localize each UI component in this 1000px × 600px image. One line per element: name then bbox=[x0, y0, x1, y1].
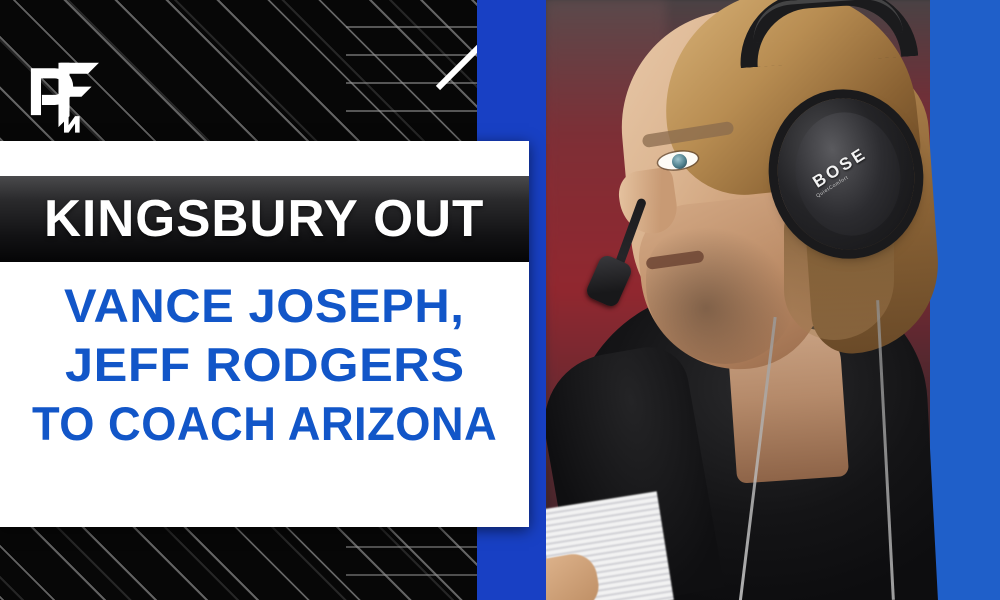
coach-iris bbox=[672, 154, 687, 169]
coach-photo: BOSE QuietComfort bbox=[546, 0, 1000, 600]
coach-figure: BOSE QuietComfort bbox=[546, 0, 1000, 600]
pfn-logo[interactable] bbox=[18, 48, 110, 140]
headline-card: KINGSBURY OUT VANCE JOSEPH, JEFF RODGERS… bbox=[0, 141, 529, 527]
headline-line-3: TO COACH ARIZONA bbox=[32, 394, 497, 453]
headline-block: VANCE JOSEPH, JEFF RODGERS TO COACH ARIZ… bbox=[0, 276, 529, 453]
kicker-text: KINGSBURY OUT bbox=[44, 189, 484, 249]
promo-graphic: BOSE QuietComfort bbox=[0, 0, 1000, 600]
headline-line-1: VANCE JOSEPH, bbox=[64, 276, 464, 335]
kicker-band: KINGSBURY OUT bbox=[0, 176, 529, 262]
headline-line-2: JEFF RODGERS bbox=[65, 335, 465, 394]
microphone-capsule bbox=[584, 253, 634, 309]
